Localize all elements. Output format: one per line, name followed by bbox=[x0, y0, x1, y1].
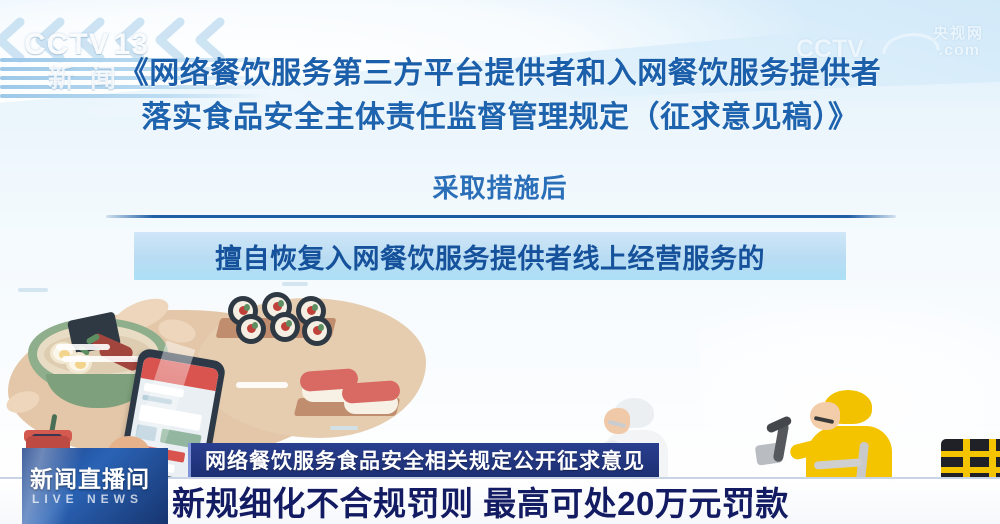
illustration-dash bbox=[18, 288, 48, 292]
program-badge: 新闻直播间 LIVE NEWS bbox=[22, 448, 168, 524]
regulation-title-block: 《网络餐饮服务第三方平台提供者和入网餐饮服务提供者 落实食品安全主体责任监督管理… bbox=[0, 52, 1000, 140]
illustration-dash bbox=[236, 382, 288, 388]
regulation-title-line-1: 《网络餐饮服务第三方平台提供者和入网餐饮服务提供者 bbox=[0, 52, 1000, 96]
watermark-cn-text: 央视网 bbox=[933, 22, 984, 43]
subheadline-bar: 网络餐饮服务食品安全相关规定公开征求意见 bbox=[188, 443, 659, 477]
sushi-icon bbox=[236, 314, 266, 344]
regulation-subtitle: 采取措施后 bbox=[0, 168, 1000, 205]
program-name: 新闻直播间 bbox=[30, 460, 162, 494]
sushi-icon bbox=[270, 312, 300, 342]
illustration-dash bbox=[282, 282, 308, 286]
program-live-label: LIVE NEWS bbox=[32, 492, 162, 506]
nigiri-sushi-icon bbox=[344, 380, 402, 416]
delivery-rider-icon bbox=[800, 390, 930, 484]
sushi-icon bbox=[302, 316, 332, 346]
title-divider bbox=[106, 215, 896, 218]
illustration-dash bbox=[56, 344, 110, 350]
regulation-title-line-2: 落实食品安全主体责任监督管理规定（征求意见稿）》 bbox=[0, 96, 1000, 140]
highlight-text: 擅自恢复入网餐饮服务提供者线上经营服务的 bbox=[134, 232, 846, 280]
headline-text: 新规细化不合规罚则 最高可处20万元罚款 bbox=[172, 477, 789, 524]
subheadline-text: 网络餐饮服务食品安全相关规定公开征求意见 bbox=[205, 445, 645, 475]
illustration-dash bbox=[330, 426, 358, 430]
broadcast-screen: CCTV13 新闻 CCTV 央视网 .com 《网络餐饮服务第三方平台提供者和… bbox=[0, 0, 1000, 524]
